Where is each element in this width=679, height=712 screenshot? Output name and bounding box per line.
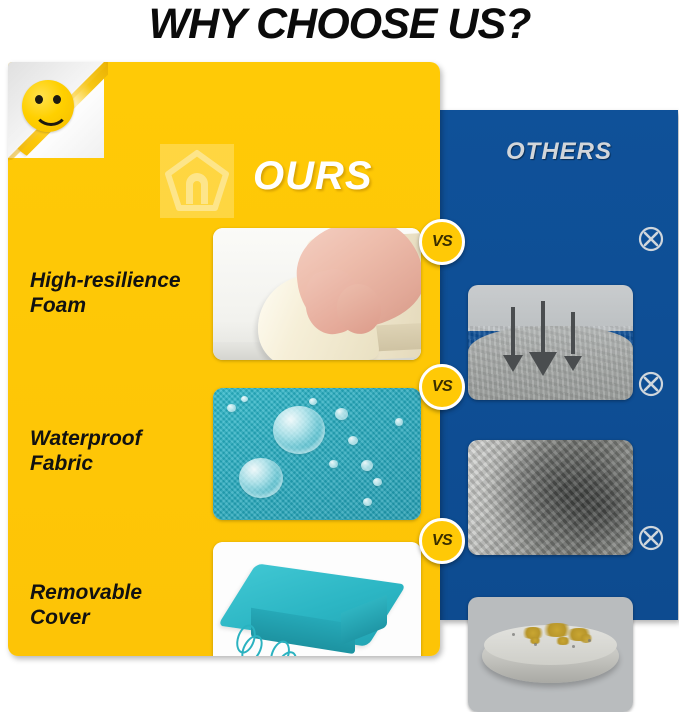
water-droplet-icon (227, 404, 236, 412)
water-droplet-icon (361, 460, 373, 471)
vs-badge: VS (419, 518, 465, 564)
feature-label-line2: Foam (30, 293, 210, 318)
ours-image-foam (213, 228, 421, 360)
feature-label-line1: Waterproof (30, 426, 210, 451)
speck-mark (534, 643, 537, 646)
others-image-cushion (468, 597, 633, 712)
house-pentagon-logo-icon (160, 144, 234, 218)
stain-mark (554, 637, 572, 645)
feature-label-line1: Removable (30, 580, 210, 605)
water-droplet-icon (273, 406, 325, 454)
water-droplet-icon (335, 408, 348, 420)
water-droplet-icon (241, 396, 248, 402)
water-droplet-icon (239, 458, 283, 498)
circle-x-icon (638, 226, 664, 252)
water-droplet-icon (395, 418, 403, 426)
water-droplet-icon (363, 498, 372, 506)
down-arrow-icon (571, 312, 575, 354)
down-arrow-icon (511, 307, 515, 355)
water-droplet-icon (348, 436, 358, 445)
feature-label-line1: High-resilience (30, 268, 210, 293)
page-title: WHY CHOOSE US? (0, 0, 679, 50)
ours-heading: OURS (253, 154, 373, 199)
stain-mark (578, 634, 594, 643)
teal-fabric-texture (213, 388, 421, 520)
ours-image-cushion (213, 542, 421, 656)
others-image-foam (468, 285, 633, 400)
speck-mark (588, 639, 591, 642)
feature-label-waterproof-fabric: Waterproof Fabric (30, 426, 210, 476)
others-image-fabric (468, 440, 633, 555)
speck-mark (512, 633, 515, 636)
circle-x-icon (638, 371, 664, 397)
vs-badge: VS (419, 219, 465, 265)
others-heading: OTHERS (440, 138, 678, 166)
speck-mark (572, 645, 575, 648)
feature-label-high-resilience-foam: High-resilience Foam (30, 268, 210, 318)
wet-stain-texture (468, 440, 633, 555)
smiley-face-icon (22, 80, 74, 132)
circle-x-icon (638, 525, 664, 551)
water-droplet-icon (373, 478, 382, 486)
water-droplet-icon (309, 398, 317, 405)
ours-image-fabric (213, 388, 421, 520)
vs-badge: VS (419, 364, 465, 410)
feature-label-line2: Cover (30, 605, 210, 630)
feature-label-line2: Fabric (30, 451, 210, 476)
water-droplet-icon (329, 460, 338, 468)
smiley-mouth (33, 100, 69, 126)
ours-panel: OURS High-resilience Foam Waterproof Fab… (8, 62, 440, 656)
down-arrow-icon (541, 301, 545, 359)
feature-label-removable-cover: Removable Cover (30, 580, 210, 630)
others-foam-background (468, 285, 633, 331)
